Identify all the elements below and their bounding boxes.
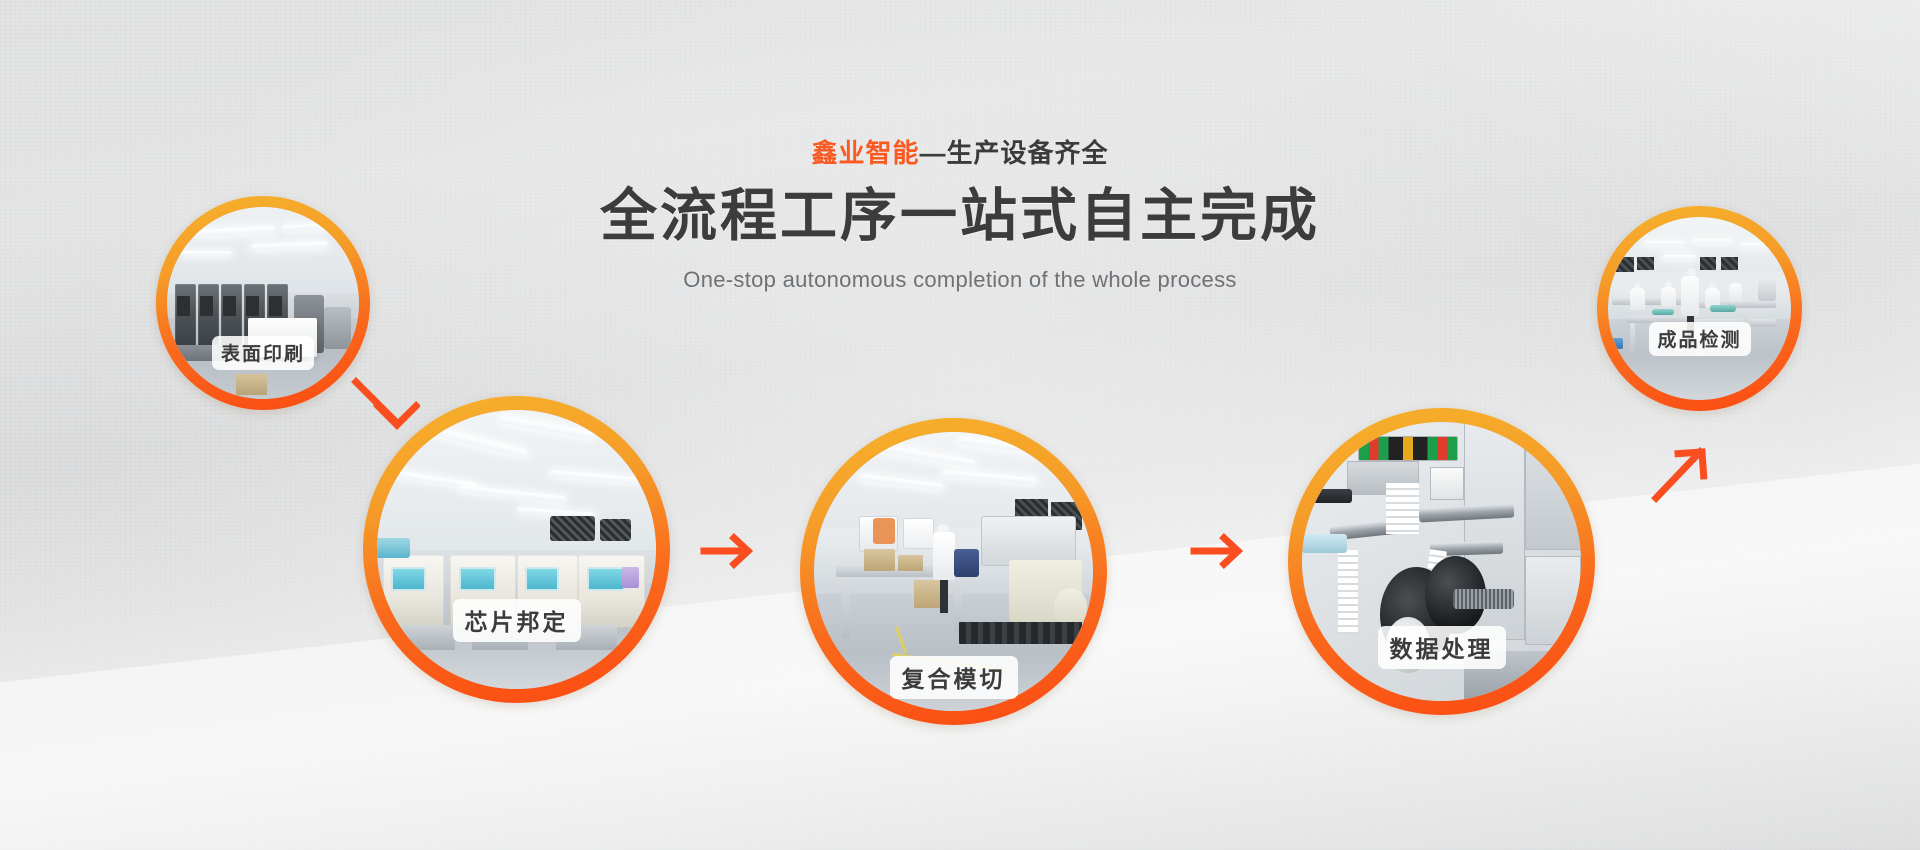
- step-label-2: 芯片邦定: [453, 599, 581, 642]
- headline-block: 鑫业智能—生产设备齐全 全流程工序一站式自主完成 One-stop autono…: [0, 138, 1920, 293]
- page-title: 全流程工序一站式自主完成: [0, 183, 1920, 250]
- process-step-3[interactable]: 复合模切: [800, 418, 1107, 725]
- step-label-4: 数据处理: [1378, 626, 1506, 669]
- process-arrow-4: [1648, 438, 1720, 515]
- step-photo-2: [377, 410, 656, 689]
- process-step-4[interactable]: 数据处理: [1288, 408, 1595, 715]
- brand-name: 鑫业智能: [811, 138, 919, 168]
- arrow-right-icon: [700, 528, 760, 574]
- process-banner: 鑫业智能—生产设备齐全 全流程工序一站式自主完成 One-stop autono…: [0, 0, 1920, 850]
- process-step-2[interactable]: 芯片邦定: [363, 396, 670, 703]
- step-label-5: 成品检测: [1648, 322, 1750, 356]
- arrow-up-right-icon: [1648, 438, 1720, 510]
- process-arrow-3: [1190, 528, 1250, 579]
- page-subtitle: One-stop autonomous completion of the wh…: [0, 267, 1920, 293]
- step-label-3: 复合模切: [890, 656, 1018, 699]
- step-label-1: 表面印刷: [212, 336, 314, 370]
- process-arrow-2: [700, 528, 760, 579]
- arrow-right-icon: [1190, 528, 1250, 574]
- eyebrow-text: 鑫业智能—生产设备齐全: [0, 138, 1920, 169]
- eyebrow-suffix: —生产设备齐全: [920, 138, 1109, 168]
- scene-chip-bonding: [377, 410, 656, 689]
